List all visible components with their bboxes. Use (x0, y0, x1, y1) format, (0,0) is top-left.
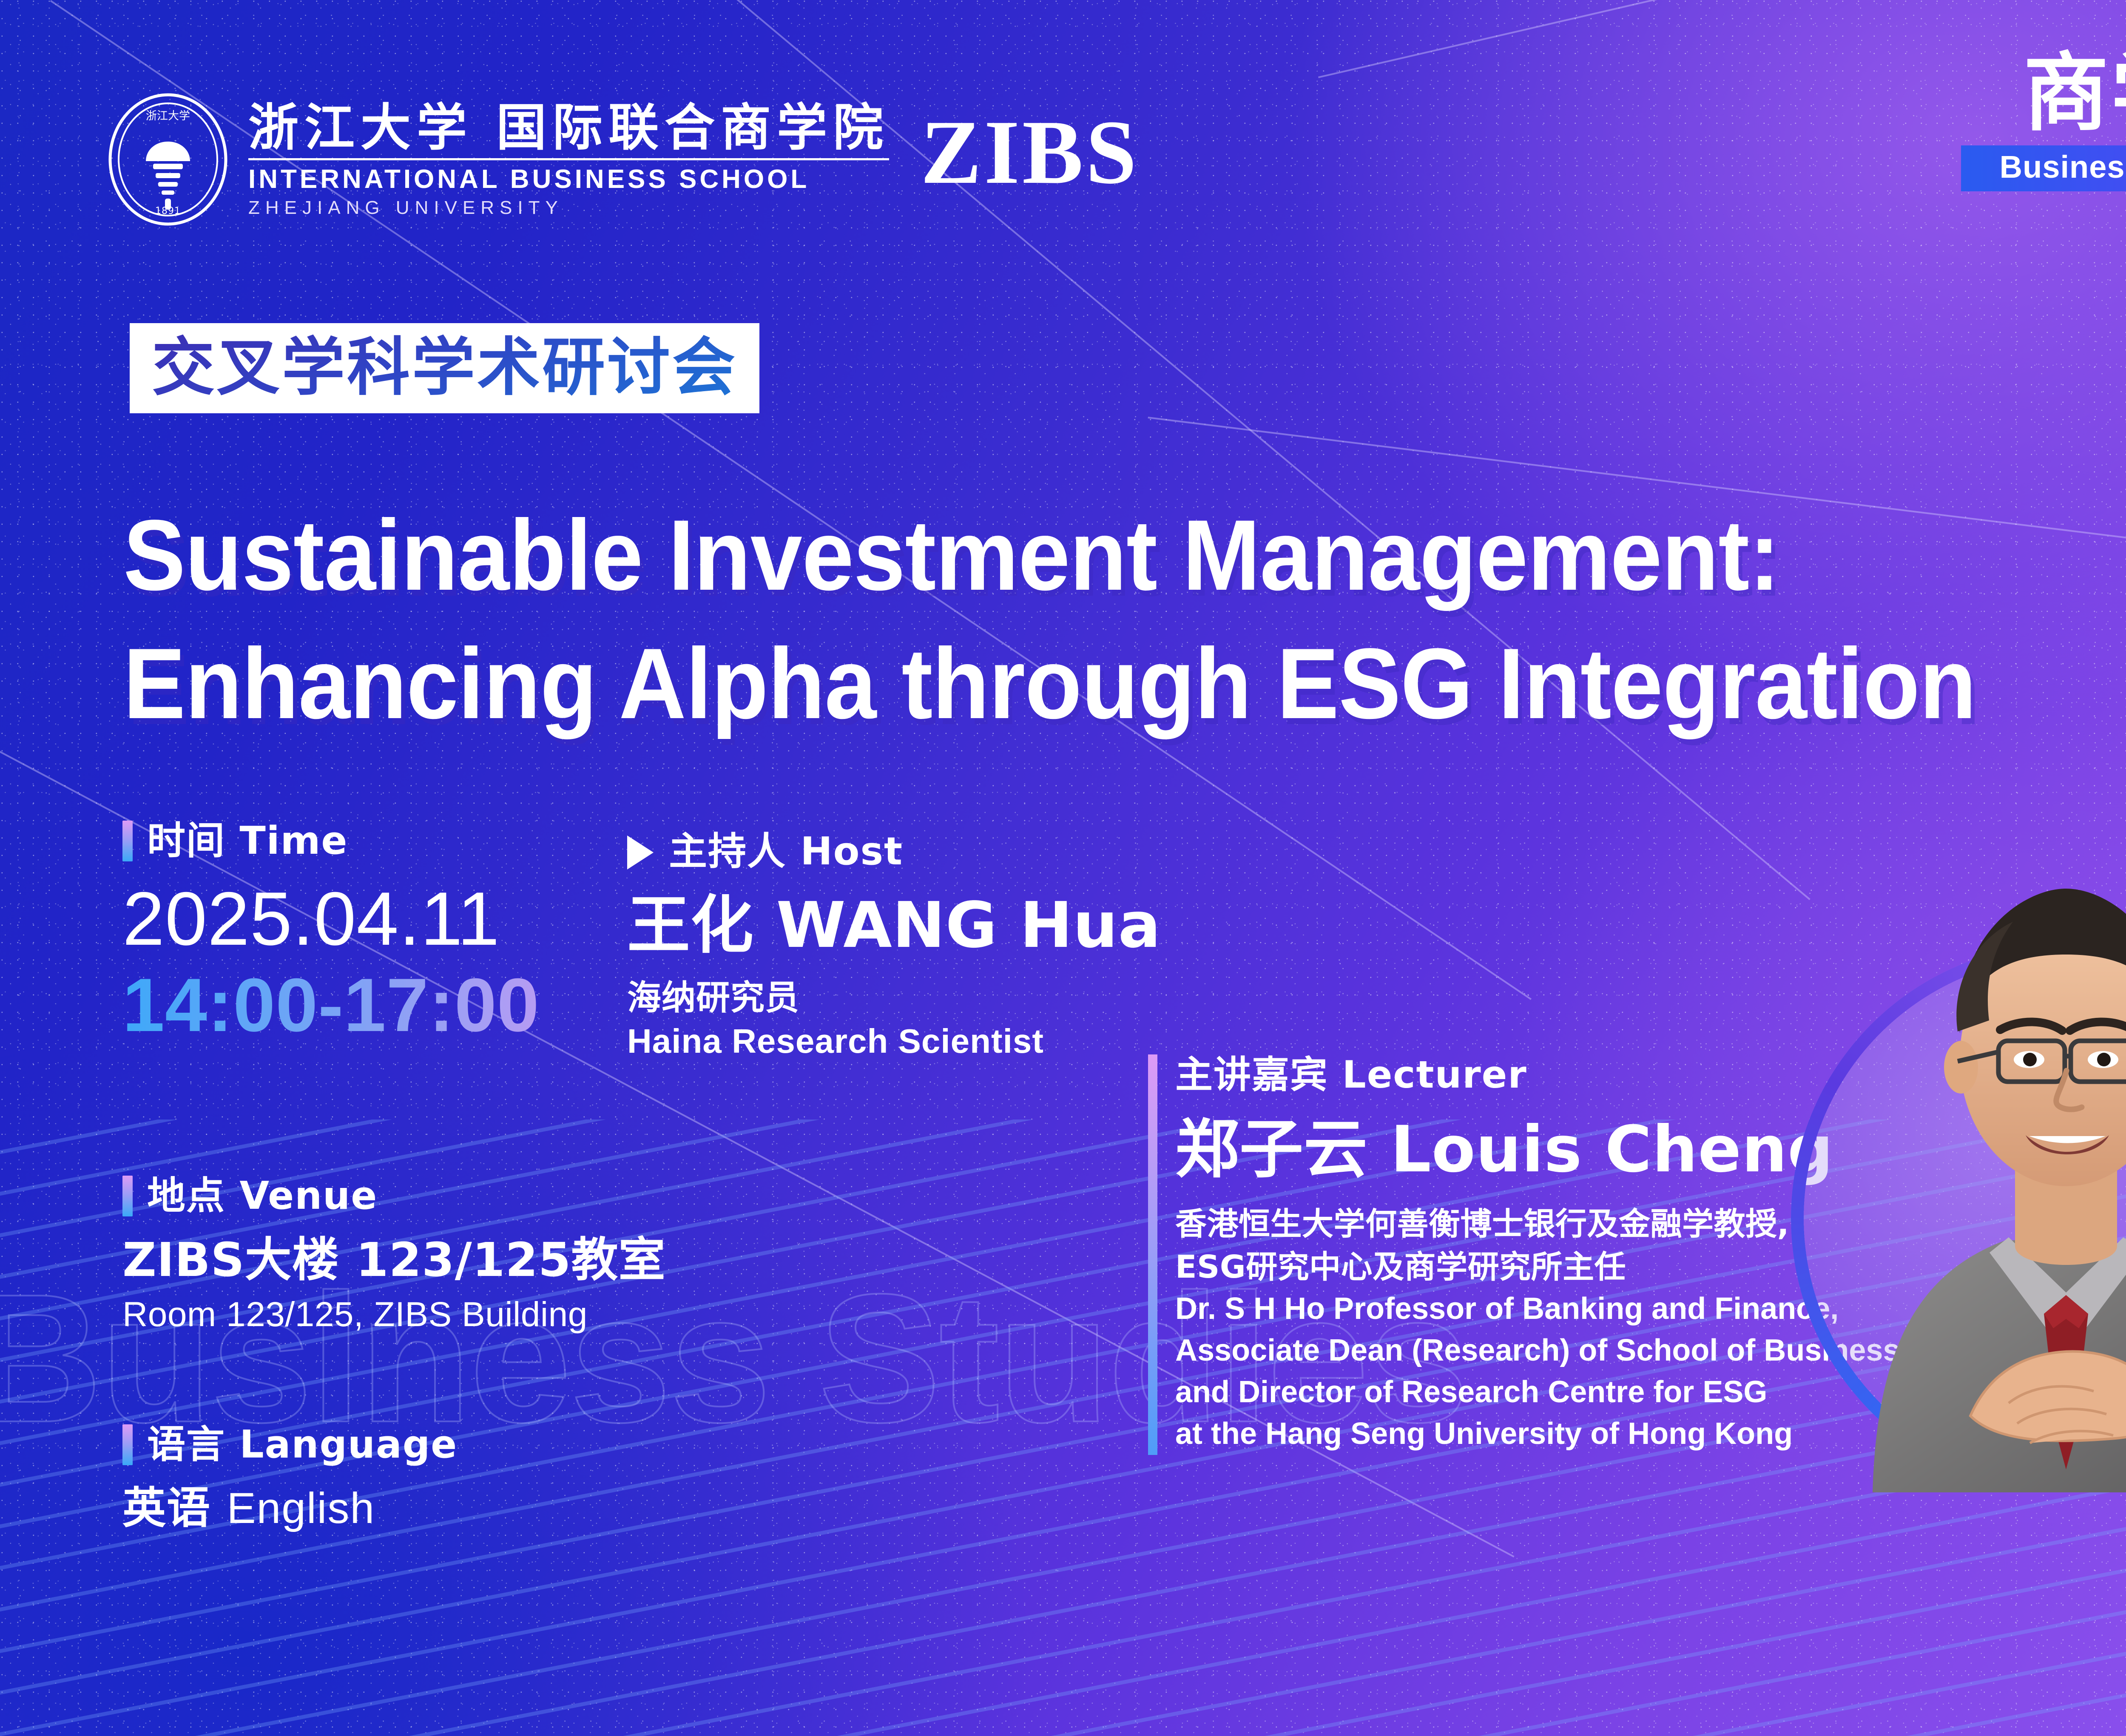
seminar-type-badge-label: 交叉学科学术研讨会 (152, 331, 737, 404)
host-section: 主持人 Host 王化 WANG Hua 海纳研究员 Haina Researc… (627, 831, 1161, 1063)
zju-ibs-logo: 浙江大学 1891 浙江大学 国际联合商学院 INTERNATIONAL BUS… (106, 91, 889, 227)
language-section: 语言 Language 英语 English (122, 1424, 458, 1534)
accent-bar-icon (1148, 1054, 1157, 1455)
title-line-1: Sustainable Investment Management: (123, 491, 1903, 619)
language-value-en: English (227, 1484, 375, 1532)
venue-value-cn: ZIBS大楼 123/125教室 (122, 1232, 665, 1288)
lecturer-photo (1830, 795, 2126, 1492)
lecturer-portrait (1791, 731, 2126, 1492)
svg-text:浙江大学: 浙江大学 (146, 110, 190, 122)
event-date: 2025.04.11 (122, 876, 540, 962)
host-role-en: Haina Research Scientist (627, 1020, 1161, 1063)
play-triangle-icon (627, 835, 654, 869)
business-studies-en-bar: Business Studies + (1961, 145, 2126, 191)
zju-logo-cn: 浙江大学 国际联合商学院 (248, 102, 889, 154)
host-role-cn: 海纳研究员 (627, 976, 1161, 1020)
title-line-2: Enhancing Alpha through ESG Integration (123, 619, 1903, 748)
time-label-row: 时间 Time (122, 821, 540, 861)
time-section: 时间 Time 2025.04.11 14:00-17:00 (122, 821, 540, 1048)
language-value: 英语 English (122, 1482, 458, 1534)
host-label-row: 主持人 Host (627, 831, 1161, 872)
venue-label: 地点 Venue (147, 1176, 378, 1216)
accent-bar-icon (122, 1424, 133, 1465)
time-label: 时间 Time (147, 821, 348, 861)
event-poster: Business Studies 浙江大学 1891 浙江大学 国际联合商学院 … (0, 0, 2126, 1736)
business-studies-plus-logo: 商学 Business Studies + (1961, 51, 2126, 191)
zju-logo-text: 浙江大学 国际联合商学院 INTERNATIONAL BUSINESS SCHO… (248, 102, 889, 218)
host-name: 王化 WANG Hua (627, 891, 1161, 960)
svg-text:1891: 1891 (155, 206, 181, 216)
zibs-wordmark: ZIBS (921, 106, 1139, 198)
language-label-row: 语言 Language (122, 1424, 458, 1465)
host-role: 海纳研究员 Haina Research Scientist (627, 976, 1161, 1063)
host-label: 主持人 Host (669, 831, 903, 872)
event-time-range: 14:00-17:00 (122, 962, 540, 1048)
accent-bar-icon (122, 821, 133, 861)
zju-logo-en-line1: INTERNATIONAL BUSINESS SCHOOL (248, 166, 889, 193)
business-studies-cn: 商学 (2024, 51, 2126, 136)
venue-label-row: 地点 Venue (122, 1176, 665, 1216)
seminar-type-badge: 交叉学科学术研讨会 (130, 323, 759, 413)
zju-logo-divider (248, 158, 889, 160)
accent-bar-icon (122, 1176, 133, 1216)
zju-logo-en-line2: ZHEJIANG UNIVERSITY (248, 199, 889, 217)
language-label: 语言 Language (147, 1424, 458, 1465)
page-title: Sustainable Investment Management: Enhan… (123, 491, 2037, 748)
venue-value-en: Room 123/125, ZIBS Building (122, 1293, 665, 1337)
venue-section: 地点 Venue ZIBS大楼 123/125教室 Room 123/125, … (122, 1176, 665, 1337)
zhejiang-university-seal-icon: 浙江大学 1891 (106, 91, 230, 227)
language-value-cn: 英语 (122, 1483, 211, 1534)
